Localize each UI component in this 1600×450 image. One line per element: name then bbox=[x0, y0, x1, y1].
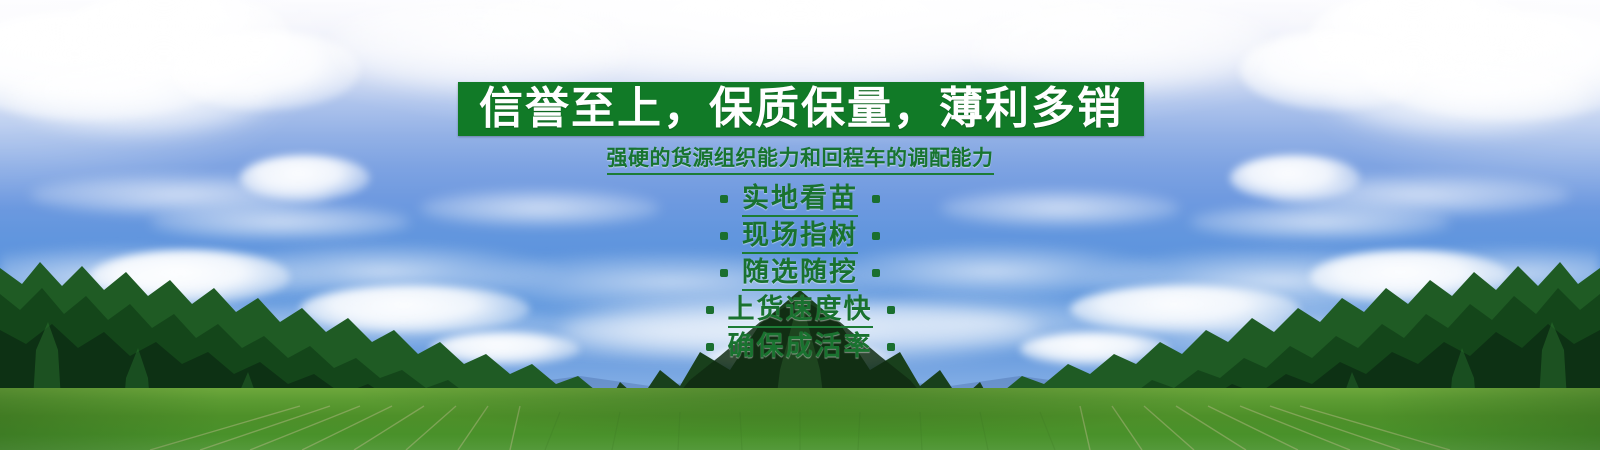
feature-list: 实地看苗 现场指树 随选随挖 上货速度快 bbox=[0, 180, 1600, 365]
dot-marker-icon bbox=[872, 195, 880, 203]
feature-label: 上货速度快 bbox=[728, 296, 873, 323]
banner-content: 信誉至上，保质保量，薄利多销 强硬的货源组织能力和回程车的调配能力 实地看苗 现… bbox=[0, 0, 1600, 450]
feature-row: 上货速度快 bbox=[706, 291, 895, 328]
feature-row: 随选随挖 bbox=[720, 254, 880, 291]
headline-bar: 信誉至上，保质保量，薄利多销 bbox=[458, 82, 1144, 136]
dot-marker-icon bbox=[720, 195, 728, 203]
dot-marker-icon bbox=[706, 343, 714, 351]
feature-label: 现场指树 bbox=[742, 222, 858, 249]
subtitle-wrapper: 强硬的货源组织能力和回程车的调配能力 bbox=[0, 146, 1600, 175]
dot-marker-icon bbox=[887, 343, 895, 351]
feature-row: 实地看苗 bbox=[720, 180, 880, 217]
promotional-banner: 信誉至上，保质保量，薄利多销 强硬的货源组织能力和回程车的调配能力 实地看苗 现… bbox=[0, 0, 1600, 450]
feature-label: 实地看苗 bbox=[742, 185, 858, 212]
dot-marker-icon bbox=[872, 269, 880, 277]
feature-row: 确保成活率 bbox=[706, 328, 895, 365]
feature-row: 现场指树 bbox=[720, 217, 880, 254]
dot-marker-icon bbox=[720, 269, 728, 277]
subtitle-text: 强硬的货源组织能力和回程车的调配能力 bbox=[607, 146, 994, 175]
dot-marker-icon bbox=[706, 306, 714, 314]
dot-marker-icon bbox=[720, 232, 728, 240]
feature-label: 随选随挖 bbox=[742, 259, 858, 286]
dot-marker-icon bbox=[887, 306, 895, 314]
dot-marker-icon bbox=[872, 232, 880, 240]
feature-label: 确保成活率 bbox=[728, 333, 873, 360]
headline-text: 信誉至上，保质保量，薄利多销 bbox=[479, 87, 1123, 131]
